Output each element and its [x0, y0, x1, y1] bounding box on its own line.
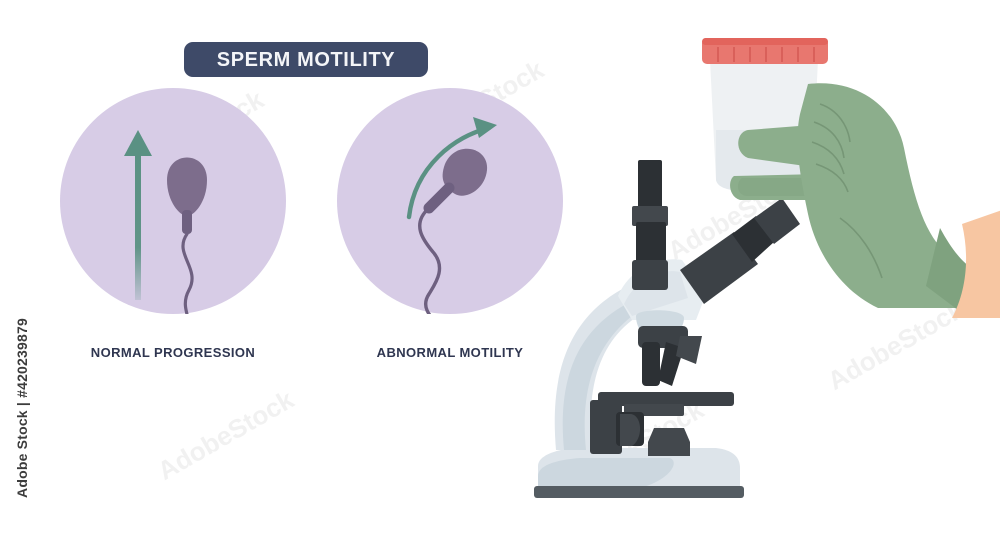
normal-progression-caption: NORMAL PROGRESSION: [60, 345, 286, 360]
cup-lid: [702, 38, 828, 64]
normal-progression-diagram: [60, 88, 286, 314]
title-banner: SPERM MOTILITY: [184, 42, 428, 77]
sperm-abnormal-icon: [420, 149, 487, 314]
illuminator-housing: [648, 428, 690, 456]
sperm-normal-icon: [167, 158, 207, 315]
normal-progression-circle: [60, 88, 286, 314]
microscope-base: [534, 448, 744, 498]
vertical-eyepiece: [632, 160, 668, 290]
watermark-tile: AdobeStock: [152, 384, 299, 487]
watermark-credit: Adobe Stock | #420239879: [14, 278, 30, 538]
page-title: SPERM MOTILITY: [217, 50, 395, 70]
objective-turret: [636, 310, 702, 386]
gloved-hand-with-specimen-cup: [690, 18, 1000, 318]
illustration-canvas: AdobeStock AdobeStock AdobeStock AdobeSt…: [0, 0, 1000, 548]
progression-arrow-icon: [124, 130, 152, 300]
